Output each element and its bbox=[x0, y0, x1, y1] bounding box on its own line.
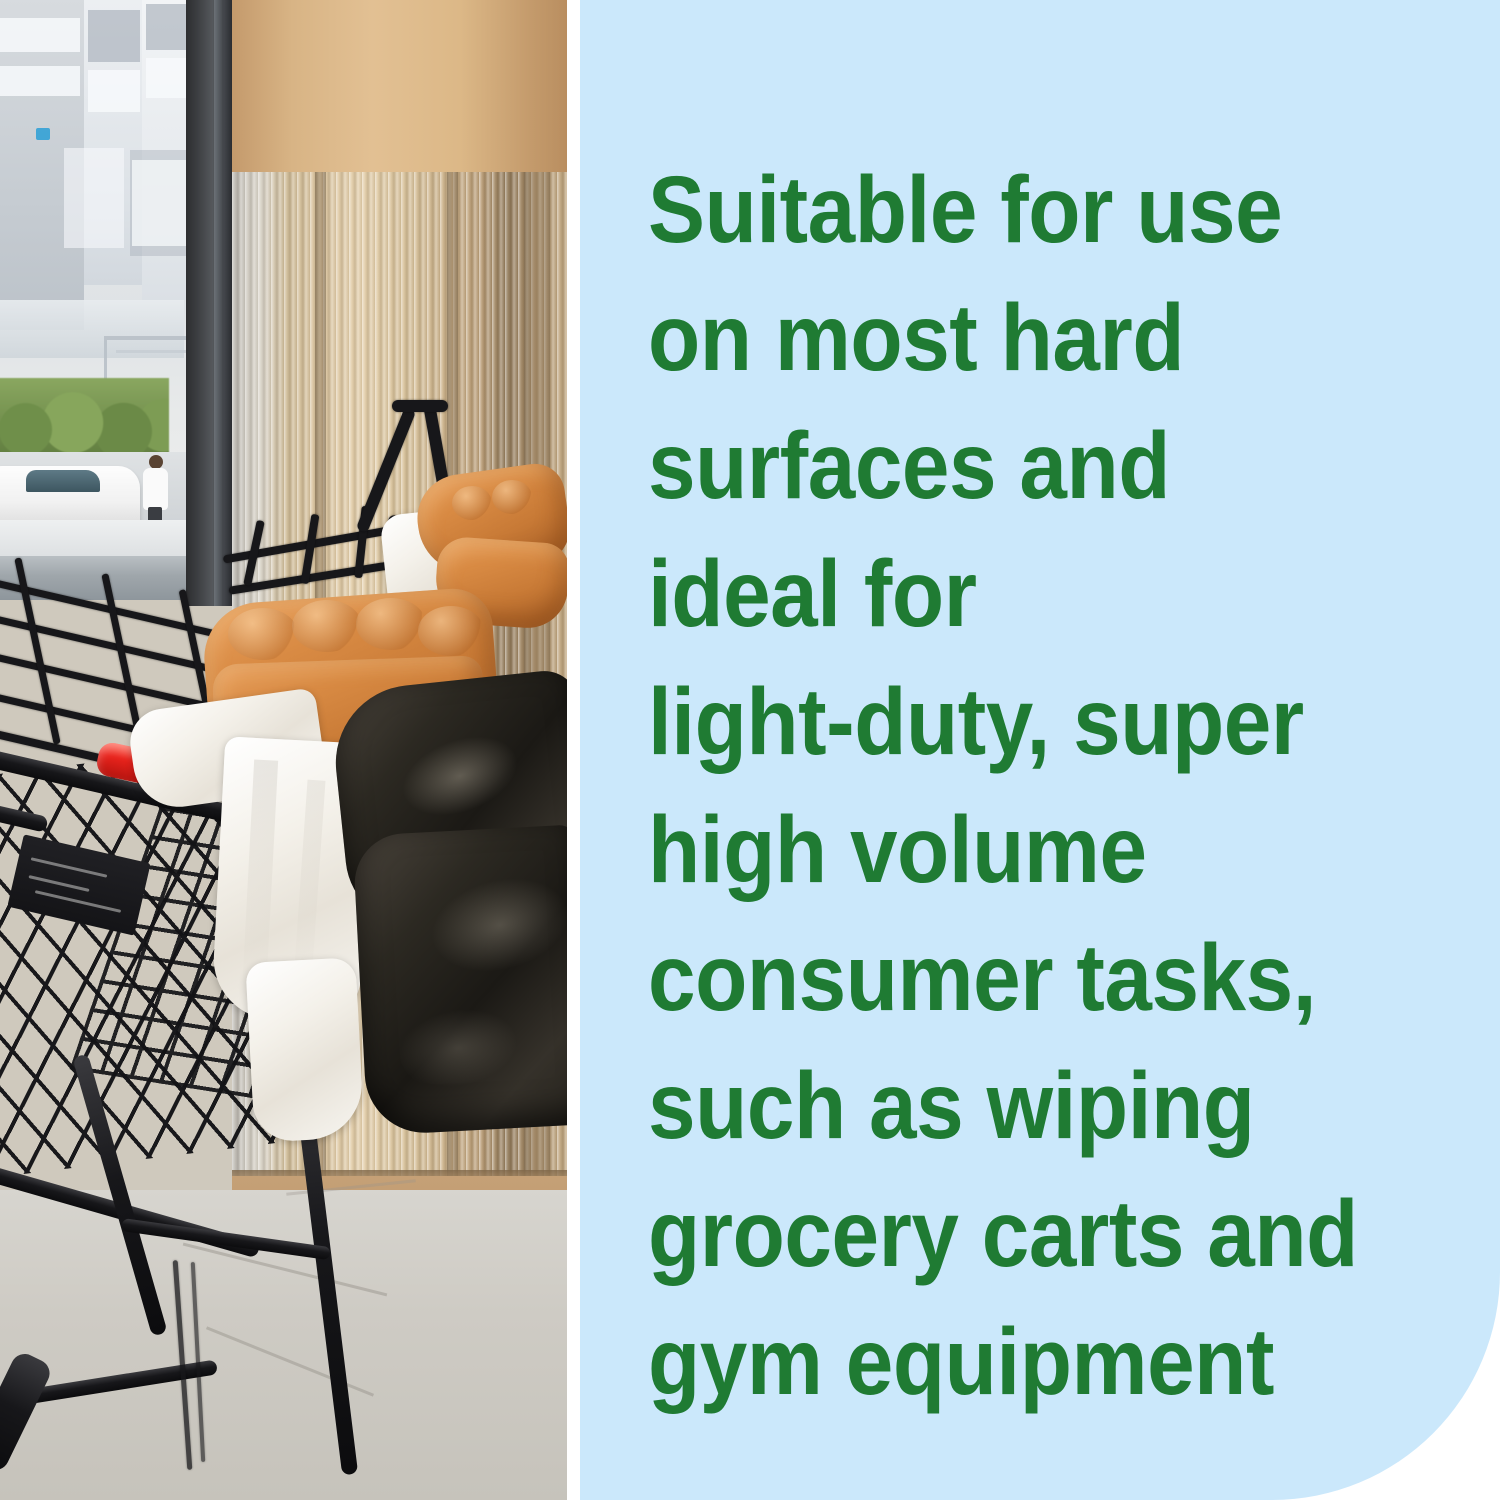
headline-text: Suitable for use on most hard surfaces a… bbox=[648, 146, 1359, 1426]
knuckle bbox=[356, 598, 426, 650]
cart-strut bbox=[14, 557, 60, 744]
knuckle bbox=[452, 486, 492, 520]
product-feature-card: Suitable for use on most hard surfaces a… bbox=[0, 0, 1500, 1500]
cleaning-wipe-tail bbox=[245, 957, 364, 1143]
knuckle bbox=[228, 608, 298, 660]
knuckle bbox=[492, 480, 532, 514]
knuckle bbox=[292, 600, 362, 652]
cart-cross-brace bbox=[121, 1218, 331, 1260]
jacket-sleeve-lower bbox=[352, 824, 567, 1135]
copy-panel: Suitable for use on most hard surfaces a… bbox=[580, 0, 1500, 1500]
cart-hoop-top bbox=[392, 400, 448, 412]
cart-leg bbox=[0, 1349, 54, 1474]
lifestyle-photo bbox=[0, 0, 567, 1500]
knuckle bbox=[418, 606, 484, 656]
